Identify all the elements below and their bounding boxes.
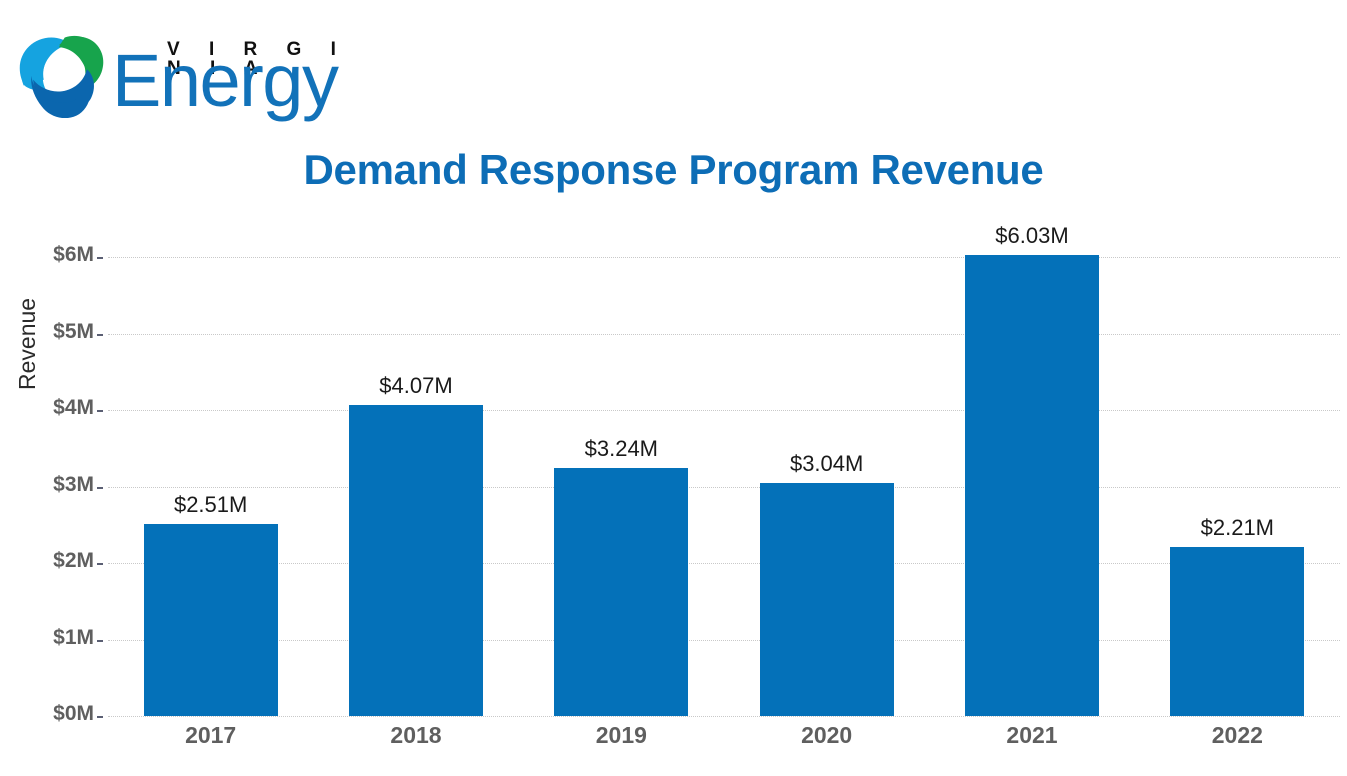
gridline [108,410,1340,411]
x-axis-tick-label: 2019 [531,722,711,749]
y-axis-tick-mark [97,640,103,642]
gridline [108,487,1340,488]
x-axis-tick-label: 2018 [326,722,506,749]
x-axis-tick-label: 2020 [737,722,917,749]
y-axis-tick-label: $6M [12,243,94,267]
y-axis-tick-mark [97,334,103,336]
bar-value-label: $2.21M [1147,515,1327,541]
y-axis-tick-mark [97,563,103,565]
gridline [108,716,1340,717]
x-axis-tick-label: 2021 [942,722,1122,749]
y-axis-tick-mark [97,487,103,489]
gridline [108,563,1340,564]
bar[interactable] [965,255,1099,716]
bar[interactable] [1170,547,1304,716]
x-axis-tick-label: 2017 [121,722,301,749]
y-axis-tick-label: $3M [12,473,94,497]
y-axis-tick-mark [97,257,103,259]
bar-value-label: $3.24M [531,436,711,462]
bar[interactable] [760,483,894,716]
y-axis-tick-mark [97,410,103,412]
gridline [108,640,1340,641]
y-axis-tick-label: $2M [12,549,94,573]
gridline [108,257,1340,258]
y-axis-tick-label: $5M [12,320,94,344]
bar-chart: Revenue $6M$5M$4M$3M$2M$1M$0M$2.51M2017$… [0,0,1347,776]
gridline [108,334,1340,335]
bar-value-label: $4.07M [326,373,506,399]
bar[interactable] [554,468,688,716]
bar-value-label: $2.51M [121,492,301,518]
bar-value-label: $6.03M [942,223,1122,249]
plot-area [108,257,1340,716]
y-axis-title: Revenue [14,298,41,390]
y-axis-tick-mark [97,716,103,718]
y-axis-tick-label: $4M [12,396,94,420]
y-axis-tick-label: $0M [12,702,94,726]
bar-value-label: $3.04M [737,451,917,477]
x-axis-tick-label: 2022 [1147,722,1327,749]
bar[interactable] [349,405,483,716]
y-axis-tick-label: $1M [12,626,94,650]
bar[interactable] [144,524,278,716]
